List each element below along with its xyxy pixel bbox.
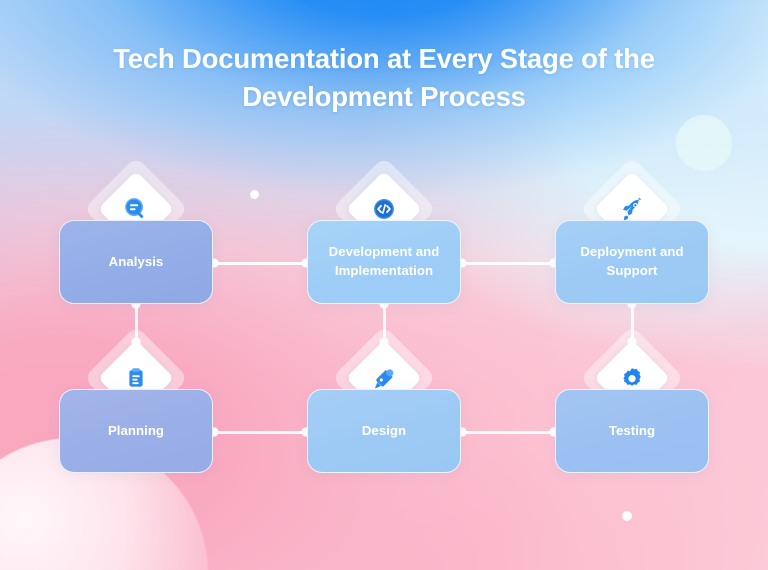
node-analysis-label: Analysis [101, 253, 172, 272]
node-testing-label: Testing [601, 422, 663, 441]
connector-design-to-testing [462, 431, 554, 434]
clipboard-icon [124, 366, 148, 390]
node-deployment-card[interactable]: Deployment and Support [555, 220, 709, 304]
process-flow-diagram: Analysis [0, 0, 768, 570]
code-brackets-icon [371, 196, 397, 222]
pen-tool-icon [372, 366, 397, 391]
node-planning-label: Planning [100, 422, 172, 441]
rocket-icon [619, 196, 645, 222]
infographic-canvas: Tech Documentation at Every Stage of the… [0, 0, 768, 570]
node-deployment-label: Deployment and Support [556, 243, 708, 280]
connector-planning-to-design [214, 431, 306, 434]
node-analysis-card[interactable]: Analysis [59, 220, 213, 304]
magnifier-document-icon [123, 196, 149, 222]
node-design-label: Design [354, 422, 414, 441]
node-testing-card[interactable]: Testing [555, 389, 709, 473]
node-design-card[interactable]: Design [307, 389, 461, 473]
node-development-label: Development and Implementation [308, 243, 460, 280]
node-development-card[interactable]: Development and Implementation [307, 220, 461, 304]
connector-analysis-to-development [214, 262, 306, 265]
gear-icon [620, 366, 645, 391]
connector-development-to-deployment [462, 262, 554, 265]
node-planning-card[interactable]: Planning [59, 389, 213, 473]
